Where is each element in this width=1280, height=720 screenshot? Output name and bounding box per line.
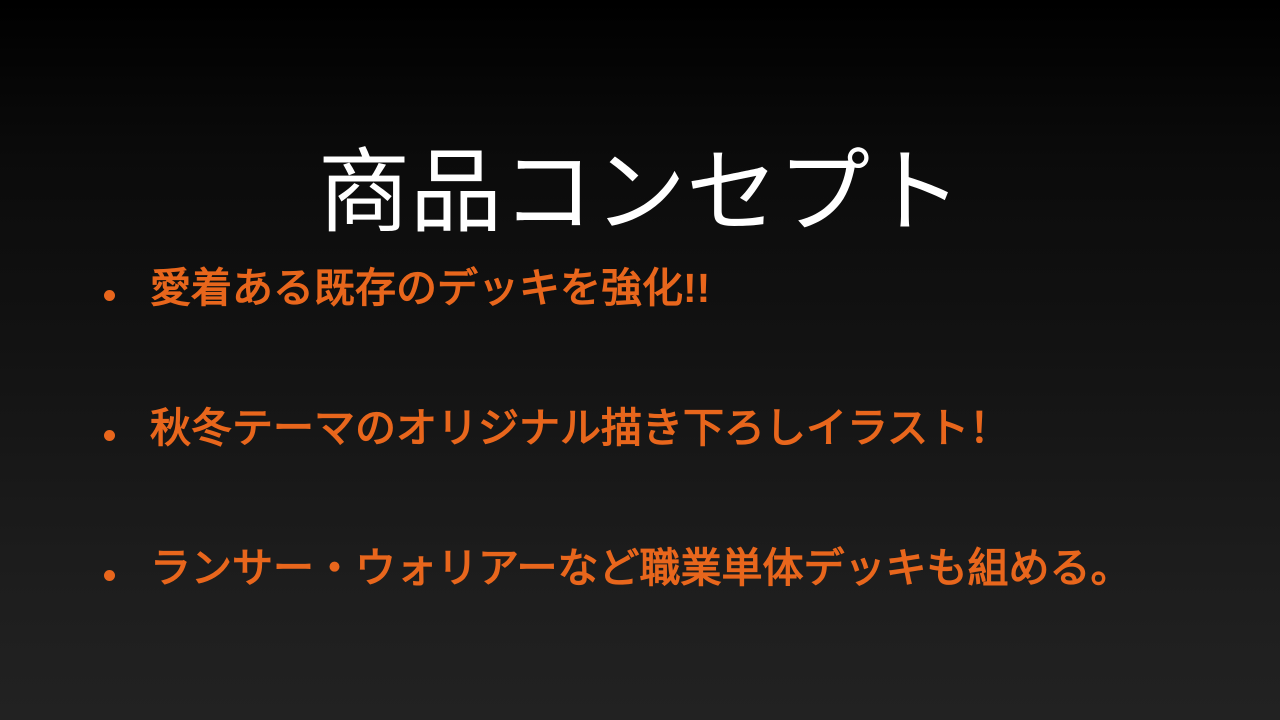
- bullet-item-label: 秋冬テーマのオリジナル描き下ろしイラスト！: [150, 402, 1280, 454]
- list-item: 愛着ある既存のデッキを強化!!: [0, 262, 1280, 402]
- bullet-item-label: ランサー・ウォリアーなど職業単体デッキも組める。: [150, 542, 1280, 594]
- list-item: 秋冬テーマのオリジナル描き下ろしイラスト！: [0, 402, 1280, 542]
- bullet-item-label: 愛着ある既存のデッキを強化!!: [150, 262, 1280, 314]
- bullet-list: 愛着ある既存のデッキを強化!! 秋冬テーマのオリジナル描き下ろしイラスト！ ラン…: [0, 262, 1280, 682]
- list-item: ランサー・ウォリアーなど職業単体デッキも組める。: [0, 542, 1280, 682]
- presentation-slide: 商品コンセプト 愛着ある既存のデッキを強化!! 秋冬テーマのオリジナル描き下ろし…: [0, 0, 1280, 720]
- slide-title: 商品コンセプト: [0, 138, 1280, 248]
- bullet-dot-icon: [104, 430, 115, 441]
- bullet-dot-icon: [104, 290, 115, 301]
- bullet-dot-icon: [104, 570, 115, 581]
